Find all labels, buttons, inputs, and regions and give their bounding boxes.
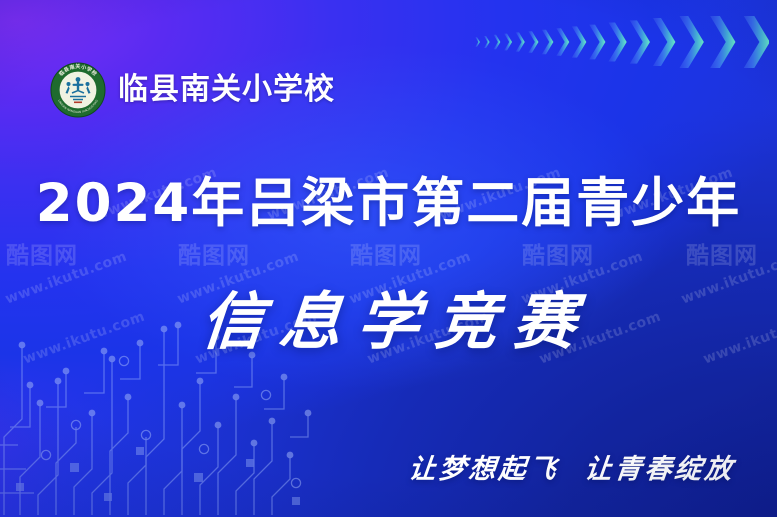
background-vignette xyxy=(0,0,777,517)
poster-canvas: 临县南关小学校 LINXIAN NANGUAN XIAOXUEXIAO 临县南关… xyxy=(0,0,777,517)
